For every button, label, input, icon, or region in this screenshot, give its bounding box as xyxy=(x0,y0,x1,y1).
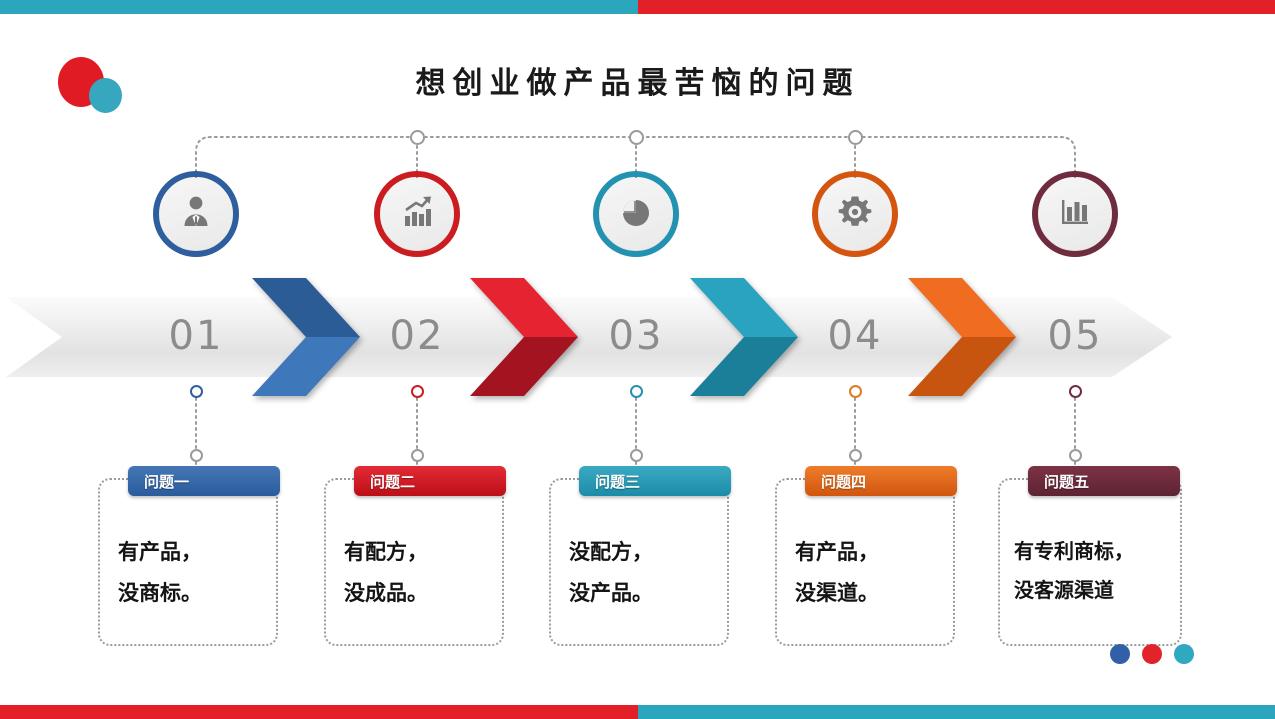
step-icon-node-04[interactable] xyxy=(819,178,891,250)
chevron-01 xyxy=(252,278,370,396)
step-marker-dot-02 xyxy=(411,385,424,398)
card-body-text-02: 有配方， 没成品。 xyxy=(344,532,492,614)
step-number-02: 02 xyxy=(372,296,462,376)
top-accent-bar xyxy=(0,0,1275,14)
problem-card-05[interactable]: 问题五有专利商标， 没客源渠道 xyxy=(998,478,1182,646)
growth-bar-chart-icon xyxy=(398,193,436,236)
step-marker-dot-04 xyxy=(849,385,862,398)
footer-dot-1 xyxy=(1110,644,1130,664)
card-marker-dot-02 xyxy=(411,449,424,462)
card-badge-01: 问题一 xyxy=(128,466,280,496)
step-number-03: 03 xyxy=(591,296,681,376)
card-marker-dot-05 xyxy=(1069,449,1082,462)
businessman-icon xyxy=(176,192,216,237)
chevron-04 xyxy=(908,278,1026,396)
chevron-03 xyxy=(690,278,808,396)
footer-decorative-dots xyxy=(1110,644,1194,664)
card-badge-05: 问题五 xyxy=(1028,466,1180,496)
bottom-accent-bar xyxy=(0,705,1275,719)
top-bar-right-segment xyxy=(638,0,1275,14)
top-line-marker-1 xyxy=(410,130,425,145)
card-marker-dot-03 xyxy=(630,449,643,462)
bar-chart-icon xyxy=(1056,193,1094,236)
step-icon-node-01[interactable] xyxy=(160,178,232,250)
card-marker-dot-01 xyxy=(190,449,203,462)
step-number-04: 04 xyxy=(810,296,900,376)
bottom-bar-right-segment xyxy=(638,705,1275,719)
step-number-05: 05 xyxy=(1030,296,1120,376)
top-line-marker-2 xyxy=(629,130,644,145)
bottom-bar-left-segment xyxy=(0,705,638,719)
problem-card-02[interactable]: 问题二有配方， 没成品。 xyxy=(324,478,504,646)
pie-chart-icon xyxy=(617,193,655,236)
problem-card-04[interactable]: 问题四有产品， 没渠道。 xyxy=(775,478,955,646)
top-line-marker-3 xyxy=(848,130,863,145)
step-marker-dot-01 xyxy=(190,385,203,398)
gear-icon xyxy=(835,192,875,237)
card-badge-02: 问题二 xyxy=(354,466,506,496)
step-icon-node-02[interactable] xyxy=(381,178,453,250)
top-bar-left-segment xyxy=(0,0,638,14)
step-icon-node-05[interactable] xyxy=(1039,178,1111,250)
problem-card-01[interactable]: 问题一有产品， 没商标。 xyxy=(98,478,278,646)
page-title: 想创业做产品最苦恼的问题 xyxy=(0,58,1275,102)
footer-dot-3 xyxy=(1174,644,1194,664)
footer-dot-2 xyxy=(1142,644,1162,664)
problem-card-03[interactable]: 问题三没配方， 没产品。 xyxy=(549,478,729,646)
step-marker-dot-03 xyxy=(630,385,643,398)
step-icon-node-03[interactable] xyxy=(600,178,672,250)
slide-root: 想创业做产品最苦恼的问题 0102030405 问题一有产品， 没商标。问题二有… xyxy=(0,0,1275,719)
card-body-text-01: 有产品， 没商标。 xyxy=(118,532,266,614)
step-number-01: 01 xyxy=(151,296,241,376)
chevron-02 xyxy=(470,278,588,396)
card-body-text-04: 有产品， 没渠道。 xyxy=(795,532,943,614)
step-marker-dot-05 xyxy=(1069,385,1082,398)
card-badge-03: 问题三 xyxy=(579,466,731,496)
card-body-text-05: 有专利商标， 没客源渠道 xyxy=(1014,532,1170,610)
card-body-text-03: 没配方， 没产品。 xyxy=(569,532,717,614)
card-marker-dot-04 xyxy=(849,449,862,462)
card-badge-04: 问题四 xyxy=(805,466,957,496)
